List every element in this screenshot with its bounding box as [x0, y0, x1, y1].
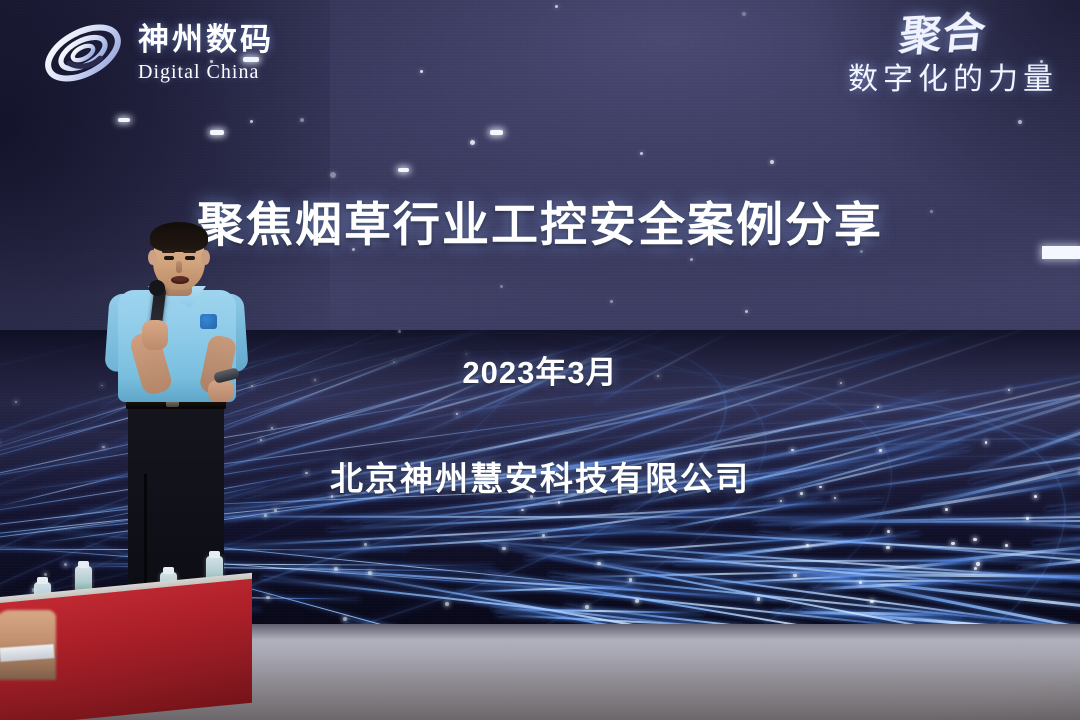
light-particle: [985, 441, 987, 443]
light-particle: [271, 427, 273, 429]
light-streak: [577, 527, 1080, 566]
background-particle: [555, 5, 558, 8]
light-streak: [436, 536, 1080, 596]
background-particle: [330, 172, 336, 178]
light-streak: [809, 580, 951, 591]
light-particle: [445, 602, 449, 606]
light-particle: [456, 413, 458, 415]
screen-glint: [398, 168, 409, 172]
light-particle: [1026, 517, 1029, 520]
event-slogan: 聚合 数字化的力量: [848, 16, 1058, 98]
speaker-left-hand: [142, 320, 168, 350]
light-streak: [742, 579, 1060, 582]
background-particle: [690, 258, 693, 261]
brand-lockup: 神州数码 Digital China: [40, 18, 274, 88]
bottle-cap: [37, 577, 48, 584]
light-streak: [934, 517, 1080, 556]
light-particle: [870, 600, 874, 604]
light-particle: [1005, 544, 1008, 547]
bottle-cap: [78, 561, 89, 568]
speaker-left-eye: [164, 256, 174, 260]
light-streak: [492, 608, 704, 614]
light-particle: [951, 542, 954, 545]
background-particle: [640, 152, 643, 155]
light-streak: [674, 562, 1080, 582]
light-streak: [480, 581, 961, 628]
light-streak: [525, 535, 840, 559]
light-particle: [334, 567, 338, 571]
light-streak: [457, 585, 643, 593]
light-streak: [315, 567, 918, 628]
speaker-mouth: [171, 276, 189, 284]
background-particle: [300, 118, 304, 122]
speaker-figure: [96, 224, 268, 628]
brand-name-cn: 神州数码: [138, 24, 274, 55]
light-streak: [328, 499, 883, 531]
light-streak: [753, 510, 1080, 523]
light-particle: [945, 508, 948, 511]
bottle-cap: [209, 551, 220, 558]
light-particle: [976, 562, 979, 565]
speaker-right-hand: [208, 380, 234, 402]
light-streak: [773, 611, 963, 617]
slogan-subline: 数字化的力量: [848, 54, 1058, 98]
conference-photo: 神州数码 Digital China 聚合 数字化的力量 聚焦烟草行业工控安全案…: [0, 0, 1080, 720]
light-streak: [655, 499, 821, 532]
screen-glint: [118, 118, 130, 122]
speaker-right-eye: [185, 256, 195, 260]
background-particle: [470, 140, 475, 145]
light-streak: [779, 571, 1080, 628]
background-particle: [745, 310, 748, 313]
light-particle: [368, 571, 372, 575]
light-streak: [1033, 507, 1080, 545]
light-streak: [758, 532, 1080, 592]
screen-glint: [210, 130, 224, 135]
light-particle: [877, 406, 879, 408]
bottle-cap: [163, 567, 174, 574]
speaker-right-ear: [201, 250, 210, 265]
light-particle: [859, 581, 863, 585]
light-streak: [775, 573, 1080, 579]
light-streak: [485, 572, 1060, 628]
screen-glint: [490, 130, 503, 135]
light-particle: [585, 605, 589, 609]
light-streak: [567, 570, 873, 578]
light-particle: [521, 509, 524, 512]
background-particle: [770, 160, 774, 164]
light-particle: [973, 538, 976, 541]
speaker-left-eyebrow: [162, 250, 175, 253]
light-streak: [600, 559, 1036, 563]
light-streak: [549, 573, 1063, 627]
background-particle: [398, 330, 401, 333]
light-particle: [64, 563, 67, 566]
background-particle: [500, 285, 503, 288]
light-streak: [704, 532, 919, 558]
light-particle: [887, 530, 890, 533]
light-particle: [806, 544, 809, 547]
slogan-headline: 聚合: [898, 12, 1061, 56]
light-particle: [558, 501, 561, 504]
light-particle: [886, 546, 889, 549]
light-particle: [974, 567, 977, 570]
digital-china-swirl-icon: [40, 18, 126, 88]
light-streak: [268, 565, 778, 600]
brand-name-en: Digital China: [138, 62, 274, 82]
light-streak: [262, 577, 771, 628]
light-particle: [274, 509, 277, 512]
light-streak: [698, 536, 895, 560]
light-particle: [364, 543, 367, 546]
light-particle: [597, 562, 600, 565]
light-streak: [701, 573, 897, 585]
background-particle: [250, 120, 253, 123]
light-streak: [1018, 552, 1080, 570]
light-particle: [502, 547, 505, 550]
light-particle: [629, 578, 633, 582]
speaker-right-eyebrow: [183, 250, 196, 253]
light-streak: [545, 541, 1080, 587]
background-particle: [610, 300, 613, 303]
speaker-hair: [150, 222, 208, 252]
light-particle: [44, 573, 48, 577]
speaker-left-ear: [148, 250, 157, 265]
light-particle: [15, 401, 17, 403]
light-particle: [757, 597, 761, 601]
light-particle: [542, 534, 545, 537]
microphone-head-icon: [149, 280, 165, 296]
background-particle: [1018, 120, 1022, 124]
light-particle: [635, 599, 639, 603]
light-particle: [343, 617, 347, 621]
light-streak: [162, 515, 872, 518]
light-streak: [826, 560, 979, 576]
light-streak: [223, 523, 668, 548]
light-streak: [292, 529, 676, 554]
light-streak: [551, 557, 1080, 628]
background-particle: [420, 70, 423, 73]
light-streak: [760, 519, 1080, 524]
light-streak: [483, 541, 1080, 628]
background-particle: [742, 12, 746, 16]
light-streak: [791, 569, 1080, 628]
light-particle: [793, 574, 797, 578]
light-streak: [478, 504, 740, 542]
speaker-nose: [176, 261, 182, 273]
light-streak: [920, 541, 1080, 564]
shirt-logo-icon: [200, 314, 217, 329]
